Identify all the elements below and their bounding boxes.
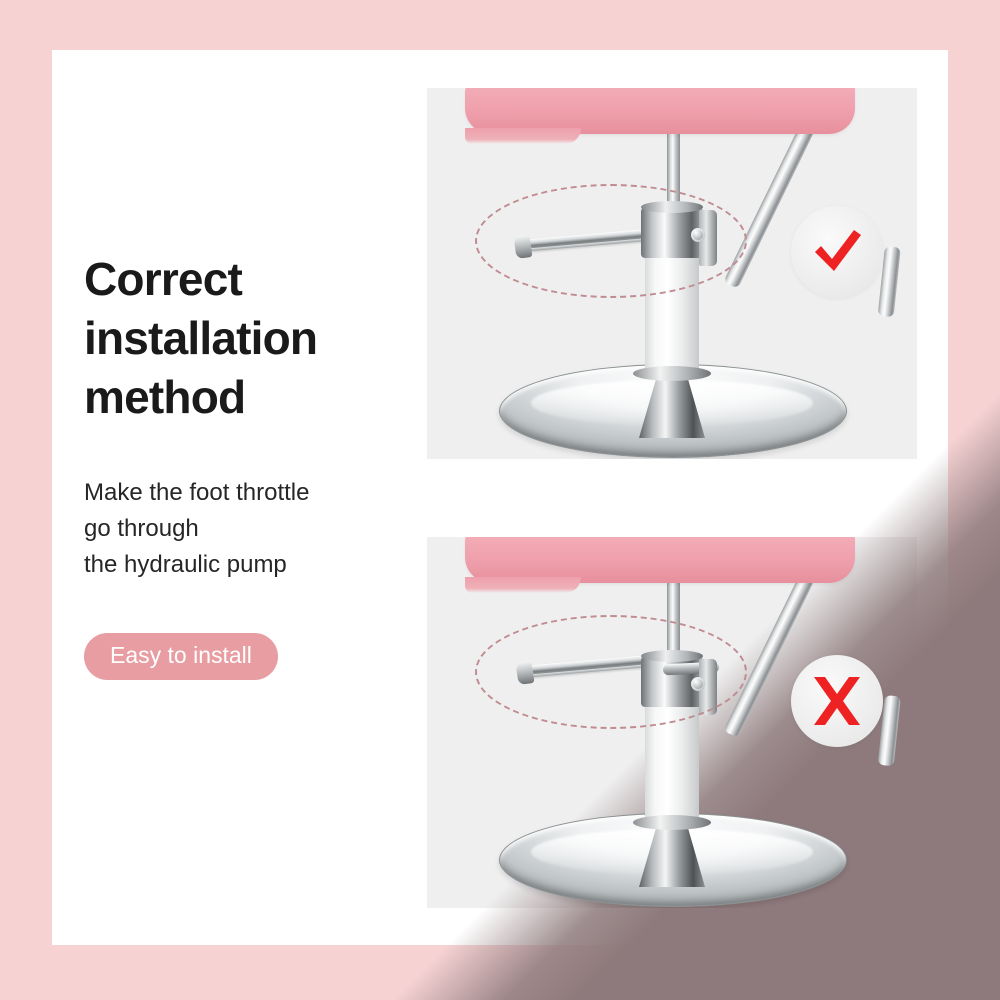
poster-canvas: Correct installation method Make the foo… [0,0,1000,1000]
foot-throttle-lever-tip [516,661,535,685]
text-column: Correct installation method Make the foo… [84,250,424,680]
verdict-badge-wrong [791,655,883,747]
verdict-badge-correct [791,206,883,298]
product-card: Correct installation method Make the foo… [52,50,948,945]
pink-seat-cushion [465,537,855,583]
hydraulic-pump-cylinder [645,703,699,821]
description-text: Make the foot throttle go through the hy… [84,475,424,583]
pump-ring [633,815,711,830]
panel-correct-installation [427,88,917,459]
pump-bolt-icon [691,677,705,691]
easy-to-install-badge: Easy to install [84,633,278,680]
chair-base-illustration-correct [427,88,917,459]
chair-base-illustration-wrong [427,537,917,908]
pink-seat-cushion [465,88,855,134]
check-icon [807,222,867,282]
cross-icon [808,672,866,730]
panel-wrong-installation [427,537,917,908]
pump-bolt-icon [691,228,705,242]
pump-ring [633,366,711,381]
foot-throttle-lever-tip [514,235,533,259]
page-title: Correct installation method [84,250,424,427]
hydraulic-pump-cylinder [645,254,699,372]
